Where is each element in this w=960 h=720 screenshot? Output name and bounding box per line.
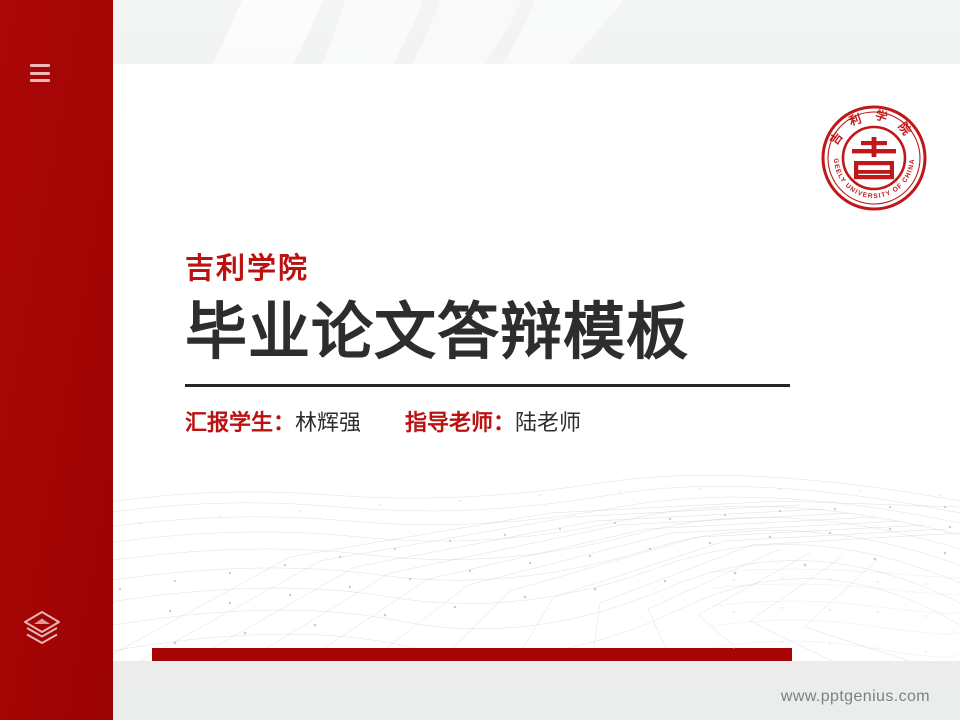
site-url: www.pptgenius.com <box>781 688 930 706</box>
advisor-label: 指导老师： <box>405 410 515 435</box>
wireframe-mesh-overflow <box>712 560 960 660</box>
hamburger-menu-icon[interactable] <box>30 64 50 82</box>
hamburger-bar-3 <box>30 79 50 82</box>
page-title: 毕业论文答辩模板 <box>185 298 790 367</box>
student-label: 汇报学生： <box>185 410 295 435</box>
presentation-slide: 吉利学院 GEELY UNIVERSITY OF CHINA <box>0 0 960 720</box>
student-name: 林辉强 <box>295 410 361 435</box>
left-rail <box>0 0 113 720</box>
layers-stack-icon[interactable] <box>22 609 62 647</box>
title-block: 吉利学院 毕业论文答辩模板 汇报学生：林辉强指导老师：陆老师 <box>185 254 790 438</box>
byline: 汇报学生：林辉强指导老师：陆老师 <box>185 409 790 438</box>
footer-accent-bar <box>152 648 792 661</box>
hamburger-bar-1 <box>30 64 50 67</box>
hamburger-bar-2 <box>30 72 50 75</box>
university-seal-logo: 吉利学院 GEELY UNIVERSITY OF CHINA <box>820 104 928 212</box>
title-divider <box>185 384 790 387</box>
school-name: 吉利学院 <box>185 254 790 286</box>
advisor-name: 陆老师 <box>515 410 581 435</box>
